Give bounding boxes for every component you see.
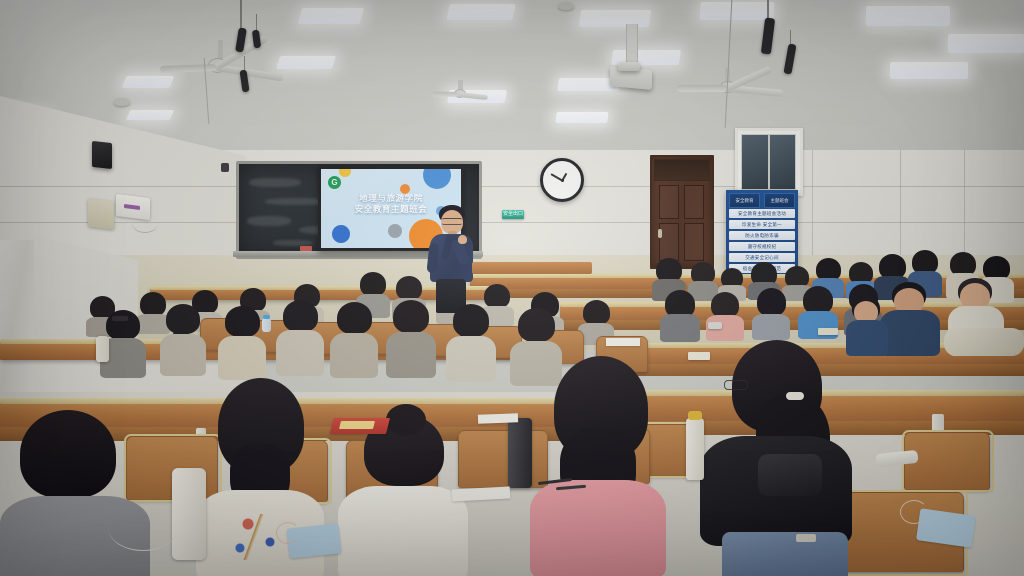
student [880, 282, 940, 354]
ceiling-panel-light [555, 112, 609, 123]
hanging-speaker-mount [762, 0, 774, 68]
front-desk [472, 262, 592, 274]
student [752, 288, 790, 338]
wall-seam [812, 150, 813, 260]
banner-row: 珍爱生命 安全第一 [729, 220, 795, 229]
wall-seam [964, 150, 965, 260]
student [660, 290, 700, 340]
student [276, 300, 324, 374]
ceiling-fan [160, 40, 280, 86]
water-bottle [262, 318, 271, 332]
ceiling-panel-light [298, 8, 365, 24]
smoke-detector-icon [558, 2, 574, 10]
presenter-hand [458, 235, 467, 244]
hanging-speaker-mount [240, 56, 249, 104]
mask-ear-loop [900, 500, 928, 524]
thermos-white-foreground [172, 468, 206, 560]
thermos-lid [688, 411, 702, 420]
slide-title-line1: 地理与旅游学院 [321, 193, 461, 204]
fan-blade [160, 64, 216, 73]
fan-blade [432, 92, 458, 97]
security-camera-icon [216, 163, 232, 177]
classroom-door[interactable] [650, 155, 714, 269]
banner-row: 遵守校规校纪 [729, 242, 795, 251]
hanging-speaker-mount [252, 14, 261, 54]
banner-row: 防火防电防诈骗 [729, 231, 795, 240]
student [530, 356, 666, 576]
thermos-yellow-cap [686, 418, 704, 480]
banner-row: 交通安全记心间 [729, 253, 795, 262]
hanging-speaker-mount [236, 0, 246, 60]
wall-clock [540, 158, 584, 202]
ceiling-panel-light [126, 110, 174, 120]
student [330, 302, 378, 376]
slide-dot-gray [388, 224, 402, 238]
glasses-icon [724, 380, 748, 390]
fan-blade [215, 64, 283, 82]
ceiling-fan [430, 80, 490, 104]
slide-dot-yellow [339, 169, 351, 177]
window-pane-left [741, 134, 769, 190]
smoke-detector-icon [114, 98, 130, 106]
slide-dot-blue-lg [423, 169, 451, 189]
door-panel [684, 223, 704, 261]
notebook-label [339, 421, 375, 429]
wall-speaker [92, 141, 112, 169]
ceiling-panel-light [446, 4, 515, 20]
student [218, 306, 266, 378]
college-logo-icon: G [328, 176, 341, 189]
student [0, 410, 150, 576]
door-transom-window [654, 159, 710, 181]
door-knob[interactable] [658, 229, 662, 238]
worksheet [606, 338, 640, 346]
thermos-white [96, 336, 109, 362]
student [386, 300, 436, 376]
ceiling-panel-light [948, 34, 1024, 53]
clock-center-pin [561, 179, 564, 182]
hanging-speaker-mount [786, 30, 795, 82]
presenter [425, 205, 477, 313]
hair-clip-icon [112, 316, 128, 321]
hair-tie [786, 392, 804, 400]
wall-seam [900, 150, 901, 260]
earphone-cable [108, 504, 178, 551]
hair-bun [386, 404, 426, 436]
student [446, 304, 496, 380]
jacket-on-desk [944, 328, 1024, 356]
notebook-on-desk [818, 328, 838, 335]
wall-seam [0, 186, 1024, 187]
belt [796, 534, 816, 542]
classroom-photo: G 地理与旅游学院 安全教育主题班会 安全出口 安全教育 主题班会 安全教育主题… [0, 0, 1024, 576]
mask-ear-loop [276, 522, 300, 544]
window-pane-right [769, 134, 796, 190]
ceiling-panel-light [866, 6, 950, 26]
backpack [758, 454, 822, 496]
ceiling-panel-light [890, 62, 968, 79]
thermos-dark [508, 418, 532, 488]
student [160, 304, 206, 374]
chalk-eraser [300, 246, 312, 251]
door-panel [659, 223, 679, 261]
jeans [722, 532, 848, 576]
glasses-icon [442, 218, 462, 225]
door-panel [684, 185, 704, 219]
worksheet [478, 413, 518, 423]
fan-blade [458, 92, 488, 100]
banner-header-left: 安全教育 [729, 193, 760, 208]
cable [132, 214, 158, 233]
classroom-window [735, 128, 803, 196]
ceiling-panel-light [276, 56, 336, 69]
electrical-panel [88, 198, 114, 229]
fan-blade [677, 85, 727, 92]
banner-row: 安全教育主题班会活动 [729, 209, 795, 218]
door-panel [659, 185, 679, 219]
phone-on-desk[interactable] [708, 322, 722, 329]
banner-header-right: 主题班会 [764, 193, 795, 208]
student [706, 292, 744, 338]
exit-sign: 安全出口 [502, 210, 524, 219]
slide-dot-blue-sm [332, 225, 350, 243]
ceiling-projector [608, 24, 654, 90]
